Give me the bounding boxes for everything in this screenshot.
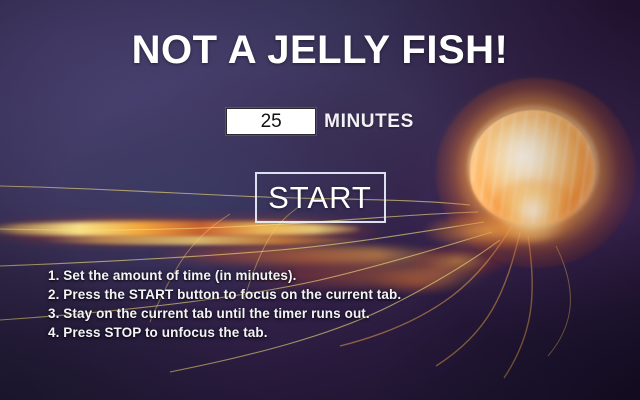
instruction-item-2: 2. Press the START button to focus on th… xyxy=(48,285,401,304)
timer-input-row: MINUTES xyxy=(0,108,640,135)
instruction-item-3: 3. Stay on the current tab until the tim… xyxy=(48,304,401,323)
start-button-row: START xyxy=(0,172,640,223)
instruction-item-4: 4. Press STOP to unfocus the tab. xyxy=(48,323,401,342)
page-title: NOT A JELLY FISH! xyxy=(0,28,640,73)
tentacle-stream-secondary xyxy=(40,236,370,245)
instructions-list: 1. Set the amount of time (in minutes). … xyxy=(48,266,401,342)
minutes-label: MINUTES xyxy=(324,111,414,133)
start-button[interactable]: START xyxy=(255,172,386,223)
instruction-item-1: 1. Set the amount of time (in minutes). xyxy=(48,266,401,285)
jellyfish-timer-app: NOT A JELLY FISH! MINUTES START 1. Set t… xyxy=(0,0,640,400)
minutes-input[interactable] xyxy=(226,108,316,135)
tentacle-stream-lower xyxy=(150,246,450,264)
tentacle-stream-primary xyxy=(0,221,360,237)
